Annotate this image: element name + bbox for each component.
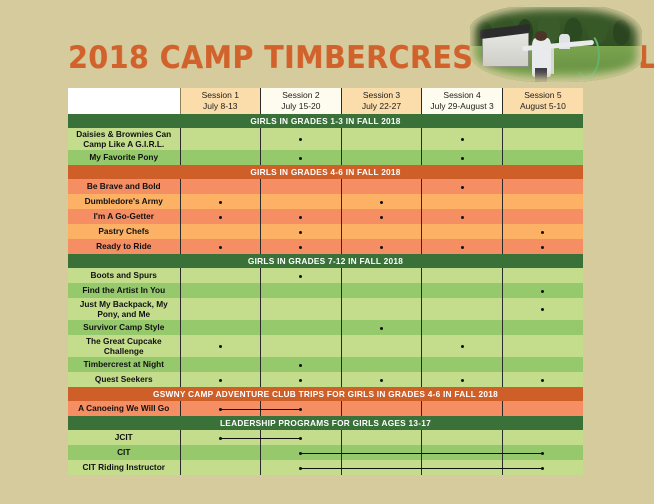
program-row: The Great Cupcake Challenge bbox=[68, 335, 583, 357]
program-label: My Favorite Pony bbox=[68, 150, 180, 165]
offered-dot bbox=[380, 201, 383, 204]
offered-dot bbox=[541, 467, 544, 470]
program-session-cell bbox=[180, 283, 261, 298]
session-header-4: Session 4July 29-August 3 bbox=[422, 88, 503, 114]
session-name: Session 3 bbox=[342, 90, 422, 101]
offered-dot bbox=[461, 345, 464, 348]
offered-dot bbox=[299, 246, 302, 249]
program-label: The Great Cupcake Challenge bbox=[68, 335, 180, 357]
program-session-cell bbox=[502, 401, 583, 416]
program-row: Quest Seekers bbox=[68, 372, 583, 387]
program-label: Pastry Chefs bbox=[68, 224, 180, 239]
program-session-cell bbox=[422, 401, 503, 416]
program-label: Daisies & Brownies Can Camp Like A G.I.R… bbox=[68, 128, 180, 150]
program-session-cell bbox=[261, 283, 342, 298]
offered-dot bbox=[461, 379, 464, 382]
program-session-cell bbox=[261, 224, 342, 239]
program-session-cell bbox=[261, 372, 342, 387]
program-label: CIT bbox=[68, 445, 180, 460]
offered-dot bbox=[299, 379, 302, 382]
offered-dot bbox=[219, 437, 222, 440]
program-session-cell bbox=[422, 320, 503, 335]
program-session-cell bbox=[341, 224, 422, 239]
program-session-cell bbox=[261, 179, 342, 194]
program-session-cell bbox=[261, 357, 342, 372]
program-row: A Canoeing We Will Go bbox=[68, 401, 583, 416]
offered-dot bbox=[461, 216, 464, 219]
program-session-cell bbox=[502, 460, 583, 475]
session-header-1: Session 1July 8-13 bbox=[180, 88, 261, 114]
program-session-cell bbox=[422, 239, 503, 254]
program-session-cell bbox=[261, 298, 342, 320]
program-session-cell bbox=[341, 128, 422, 150]
program-session-cell bbox=[502, 430, 583, 445]
offered-dot bbox=[380, 379, 383, 382]
program-session-cell bbox=[502, 372, 583, 387]
offered-dot bbox=[461, 157, 464, 160]
offered-dot bbox=[299, 437, 302, 440]
program-session-cell bbox=[422, 430, 503, 445]
program-session-cell bbox=[341, 335, 422, 357]
session-dates: July 15-20 bbox=[261, 101, 341, 112]
program-session-cell bbox=[341, 194, 422, 209]
program-session-cell bbox=[341, 357, 422, 372]
program-session-cell bbox=[261, 335, 342, 357]
offered-dot bbox=[299, 216, 302, 219]
program-label: JCIT bbox=[68, 430, 180, 445]
program-session-cell bbox=[422, 209, 503, 224]
offered-dot bbox=[541, 452, 544, 455]
offered-dot bbox=[299, 275, 302, 278]
offered-dot bbox=[541, 379, 544, 382]
program-session-cell bbox=[422, 283, 503, 298]
program-row: My Favorite Pony bbox=[68, 150, 583, 165]
section-heading-row: GIRLS IN GRADES 1-3 IN FALL 2018 bbox=[68, 114, 583, 128]
offered-dot bbox=[219, 216, 222, 219]
program-session-cell bbox=[502, 320, 583, 335]
program-row: Timbercrest at Night bbox=[68, 357, 583, 372]
girl-archery-photo bbox=[470, 4, 642, 82]
program-session-cell bbox=[341, 298, 422, 320]
program-session-cell bbox=[422, 298, 503, 320]
session-name: Session 4 bbox=[422, 90, 502, 101]
program-session-cell bbox=[180, 357, 261, 372]
program-label: Be Brave and Bold bbox=[68, 179, 180, 194]
offered-dot bbox=[219, 246, 222, 249]
section-heading-row: LEADERSHIP PROGRAMS FOR GIRLS AGES 13-17 bbox=[68, 416, 583, 430]
program-session-cell bbox=[502, 445, 583, 460]
program-session-cell bbox=[180, 179, 261, 194]
program-label: CIT Riding Instructor bbox=[68, 460, 180, 475]
offered-dot bbox=[461, 138, 464, 141]
program-session-cell bbox=[422, 150, 503, 165]
program-session-cell bbox=[502, 268, 583, 283]
program-session-cell bbox=[422, 357, 503, 372]
program-row: Survivor Camp Style bbox=[68, 320, 583, 335]
program-session-cell bbox=[502, 224, 583, 239]
program-session-cell bbox=[180, 460, 261, 475]
offered-dot bbox=[461, 186, 464, 189]
section-heading: LEADERSHIP PROGRAMS FOR GIRLS AGES 13-17 bbox=[68, 416, 583, 430]
section-heading: GSWNY CAMP ADVENTURE CLUB TRIPS FOR GIRL… bbox=[68, 387, 583, 401]
program-session-cell bbox=[502, 150, 583, 165]
offered-dot bbox=[541, 231, 544, 234]
program-label: Dumbledore's Army bbox=[68, 194, 180, 209]
program-label: Just My Backpack, My Pony, and Me bbox=[68, 298, 180, 320]
program-label: I'm A Go-Getter bbox=[68, 209, 180, 224]
session-dates: July 8-13 bbox=[181, 101, 261, 112]
program-session-cell bbox=[180, 401, 261, 416]
program-session-cell bbox=[180, 372, 261, 387]
program-label: Ready to Ride bbox=[68, 239, 180, 254]
program-session-cell bbox=[261, 460, 342, 475]
program-row: Pastry Chefs bbox=[68, 224, 583, 239]
program-label: Survivor Camp Style bbox=[68, 320, 180, 335]
program-session-cell bbox=[422, 128, 503, 150]
program-row: I'm A Go-Getter bbox=[68, 209, 583, 224]
program-session-cell bbox=[502, 283, 583, 298]
program-session-cell bbox=[261, 430, 342, 445]
program-session-cell bbox=[180, 150, 261, 165]
program-label: Find the Artist In You bbox=[68, 283, 180, 298]
offered-dot bbox=[299, 157, 302, 160]
program-session-cell bbox=[341, 320, 422, 335]
program-session-cell bbox=[261, 268, 342, 283]
program-session-cell bbox=[341, 209, 422, 224]
program-row: Be Brave and Bold bbox=[68, 179, 583, 194]
program-label: Boots and Spurs bbox=[68, 268, 180, 283]
offered-dot bbox=[299, 138, 302, 141]
program-label: Quest Seekers bbox=[68, 372, 180, 387]
offered-dot bbox=[299, 452, 302, 455]
program-session-cell bbox=[261, 320, 342, 335]
program-row: CIT bbox=[68, 445, 583, 460]
offered-dot bbox=[380, 246, 383, 249]
camp-schedule-table: Session 1July 8-13Session 2July 15-20Ses… bbox=[68, 88, 583, 475]
program-session-cell bbox=[261, 150, 342, 165]
session-header-row: Session 1July 8-13Session 2July 15-20Ses… bbox=[68, 88, 583, 114]
program-row: CIT Riding Instructor bbox=[68, 460, 583, 475]
program-session-cell bbox=[261, 239, 342, 254]
section-heading-row: GSWNY CAMP ADVENTURE CLUB TRIPS FOR GIRL… bbox=[68, 387, 583, 401]
program-session-cell bbox=[341, 179, 422, 194]
offered-dot bbox=[219, 379, 222, 382]
program-session-cell bbox=[341, 460, 422, 475]
program-session-cell bbox=[180, 224, 261, 239]
session-dates: July 22-27 bbox=[342, 101, 422, 112]
program-session-cell bbox=[261, 401, 342, 416]
session-header-5: Session 5August 5-10 bbox=[502, 88, 583, 114]
program-session-cell bbox=[341, 401, 422, 416]
section-heading-row: GIRLS IN GRADES 7-12 IN FALL 2018 bbox=[68, 254, 583, 268]
program-session-cell bbox=[180, 209, 261, 224]
program-session-cell bbox=[180, 239, 261, 254]
program-session-cell bbox=[261, 209, 342, 224]
program-session-cell bbox=[341, 283, 422, 298]
program-session-cell bbox=[341, 445, 422, 460]
program-session-cell bbox=[180, 268, 261, 283]
program-session-cell bbox=[261, 194, 342, 209]
program-label: A Canoeing We Will Go bbox=[68, 401, 180, 416]
program-session-cell bbox=[180, 445, 261, 460]
table-corner-cell bbox=[68, 88, 180, 114]
offered-dot bbox=[219, 408, 222, 411]
session-name: Session 1 bbox=[181, 90, 261, 101]
offered-dot bbox=[299, 467, 302, 470]
program-row: Find the Artist In You bbox=[68, 283, 583, 298]
offered-dot bbox=[299, 408, 302, 411]
program-session-cell bbox=[180, 298, 261, 320]
offered-dot bbox=[541, 308, 544, 311]
program-session-cell bbox=[180, 335, 261, 357]
offered-dot bbox=[380, 327, 383, 330]
program-session-cell bbox=[261, 128, 342, 150]
session-header-2: Session 2July 15-20 bbox=[261, 88, 342, 114]
session-dates: August 5-10 bbox=[503, 101, 583, 112]
program-session-cell bbox=[422, 268, 503, 283]
program-session-cell bbox=[422, 335, 503, 357]
session-dates: July 29-August 3 bbox=[422, 101, 502, 112]
program-session-cell bbox=[422, 460, 503, 475]
program-session-cell bbox=[422, 179, 503, 194]
offered-dot bbox=[461, 246, 464, 249]
program-session-cell bbox=[341, 239, 422, 254]
program-session-cell bbox=[502, 179, 583, 194]
program-session-cell bbox=[422, 445, 503, 460]
section-heading-row: GIRLS IN GRADES 4-6 IN FALL 2018 bbox=[68, 165, 583, 179]
program-row: Dumbledore's Army bbox=[68, 194, 583, 209]
offered-dot bbox=[541, 290, 544, 293]
section-heading: GIRLS IN GRADES 1-3 IN FALL 2018 bbox=[68, 114, 583, 128]
offered-dot bbox=[380, 216, 383, 219]
program-session-cell bbox=[502, 239, 583, 254]
program-row: Ready to Ride bbox=[68, 239, 583, 254]
session-header-3: Session 3July 22-27 bbox=[341, 88, 422, 114]
program-row: Just My Backpack, My Pony, and Me bbox=[68, 298, 583, 320]
program-session-cell bbox=[502, 209, 583, 224]
section-heading: GIRLS IN GRADES 4-6 IN FALL 2018 bbox=[68, 165, 583, 179]
program-session-cell bbox=[502, 194, 583, 209]
session-name: Session 5 bbox=[503, 90, 583, 101]
section-heading: GIRLS IN GRADES 7-12 IN FALL 2018 bbox=[68, 254, 583, 268]
offered-dot bbox=[219, 345, 222, 348]
program-session-cell bbox=[422, 194, 503, 209]
program-session-cell bbox=[341, 150, 422, 165]
program-session-cell bbox=[502, 298, 583, 320]
page-header: 2018 CAMP TIMBERCREST SCHEDULE bbox=[0, 0, 654, 88]
session-name: Session 2 bbox=[261, 90, 341, 101]
program-session-cell bbox=[341, 430, 422, 445]
program-session-cell bbox=[502, 128, 583, 150]
program-session-cell bbox=[422, 372, 503, 387]
program-label: Timbercrest at Night bbox=[68, 357, 180, 372]
program-session-cell bbox=[502, 357, 583, 372]
program-session-cell bbox=[180, 194, 261, 209]
offered-dot bbox=[299, 231, 302, 234]
program-row: Boots and Spurs bbox=[68, 268, 583, 283]
program-session-cell bbox=[180, 128, 261, 150]
program-session-cell bbox=[180, 320, 261, 335]
program-session-cell bbox=[502, 335, 583, 357]
program-session-cell bbox=[261, 445, 342, 460]
offered-dot bbox=[299, 364, 302, 367]
program-row: JCIT bbox=[68, 430, 583, 445]
program-session-cell bbox=[341, 268, 422, 283]
program-row: Daisies & Brownies Can Camp Like A G.I.R… bbox=[68, 128, 583, 150]
offered-dot bbox=[219, 201, 222, 204]
photo-vignette bbox=[470, 4, 642, 82]
program-session-cell bbox=[341, 372, 422, 387]
offered-dot bbox=[541, 246, 544, 249]
program-session-cell bbox=[180, 430, 261, 445]
program-session-cell bbox=[422, 224, 503, 239]
